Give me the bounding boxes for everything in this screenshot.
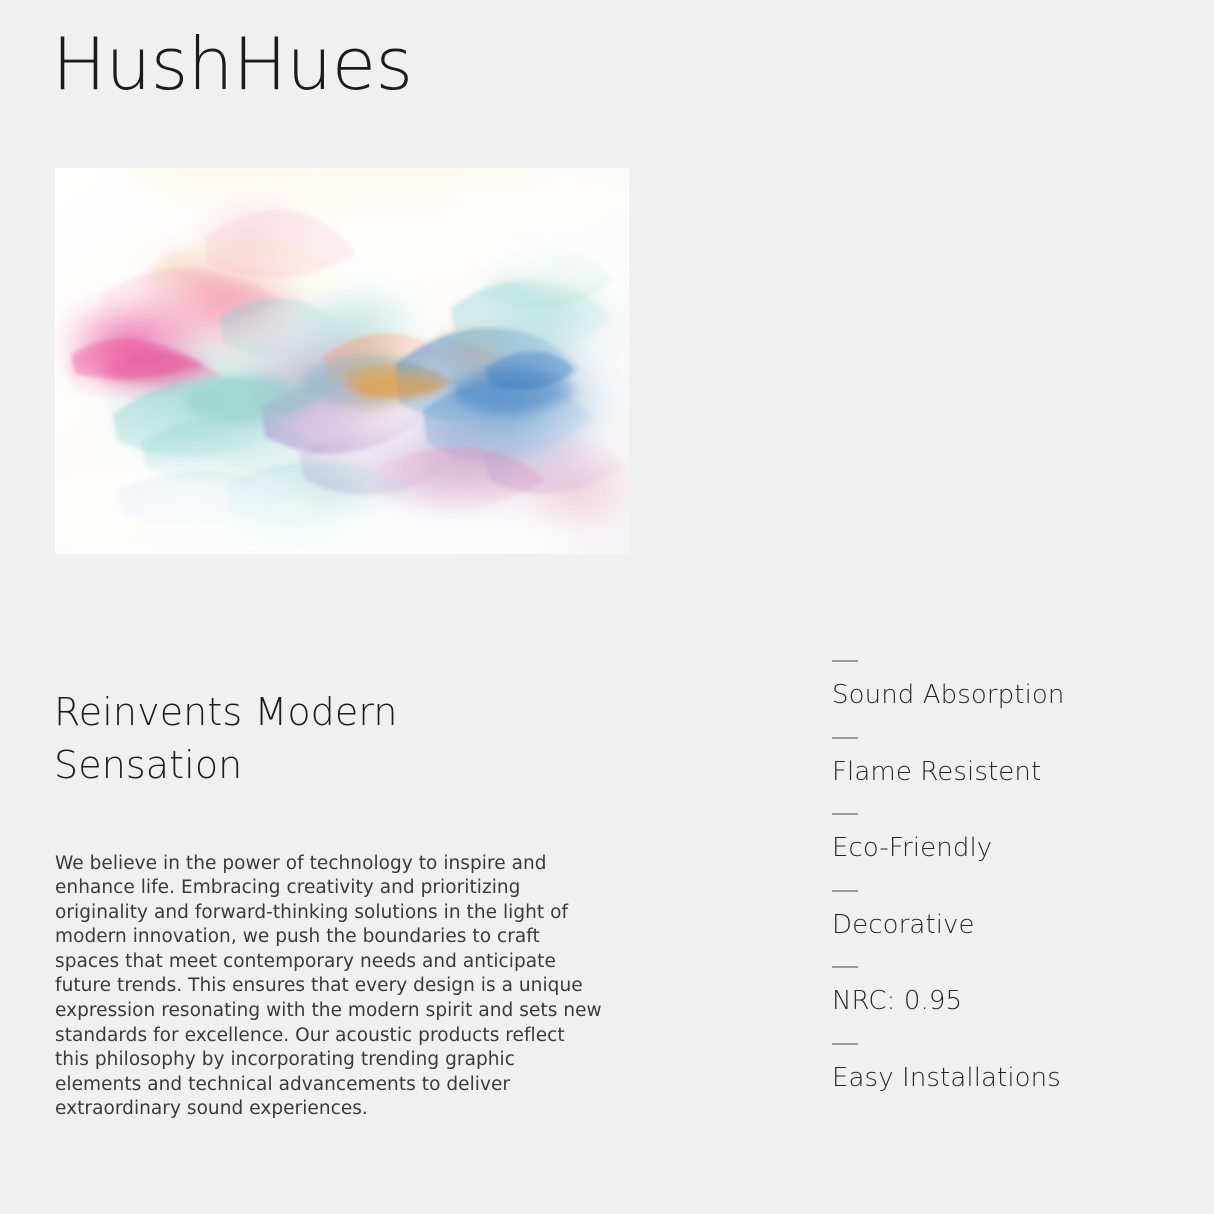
hero-artwork [55,168,629,554]
page-root: HushHues [0,0,1214,1214]
list-item[interactable]: Decorative [832,890,1162,967]
list-item[interactable]: Sound Absorption [832,660,1162,737]
list-item[interactable]: Easy Installations [832,1043,1162,1120]
feature-label: Eco-Friendly [832,835,1162,861]
list-item[interactable]: Eco-Friendly [832,813,1162,890]
list-item[interactable]: Flame Resistent [832,737,1162,814]
body-paragraph: We believe in the power of technology to… [55,852,603,1123]
brand-logo[interactable]: HushHues [52,28,413,100]
dash-icon [832,813,858,815]
abstract-artwork-image [55,168,629,554]
dash-icon [832,660,858,662]
feature-label: Sound Absorption [832,682,1162,708]
dash-icon [832,966,858,968]
page-headline: Reinvents Modern Sensation [54,686,574,791]
feature-label: Decorative [832,912,1162,938]
feature-label: NRC: 0.95 [832,988,1162,1014]
dash-icon [832,890,858,892]
dash-icon [832,1043,858,1045]
feature-label: Easy Installations [832,1065,1162,1091]
feature-list: Sound Absorption Flame Resistent Eco-Fri… [832,660,1162,1119]
dash-icon [832,737,858,739]
feature-label: Flame Resistent [832,759,1162,785]
list-item[interactable]: NRC: 0.95 [832,966,1162,1043]
